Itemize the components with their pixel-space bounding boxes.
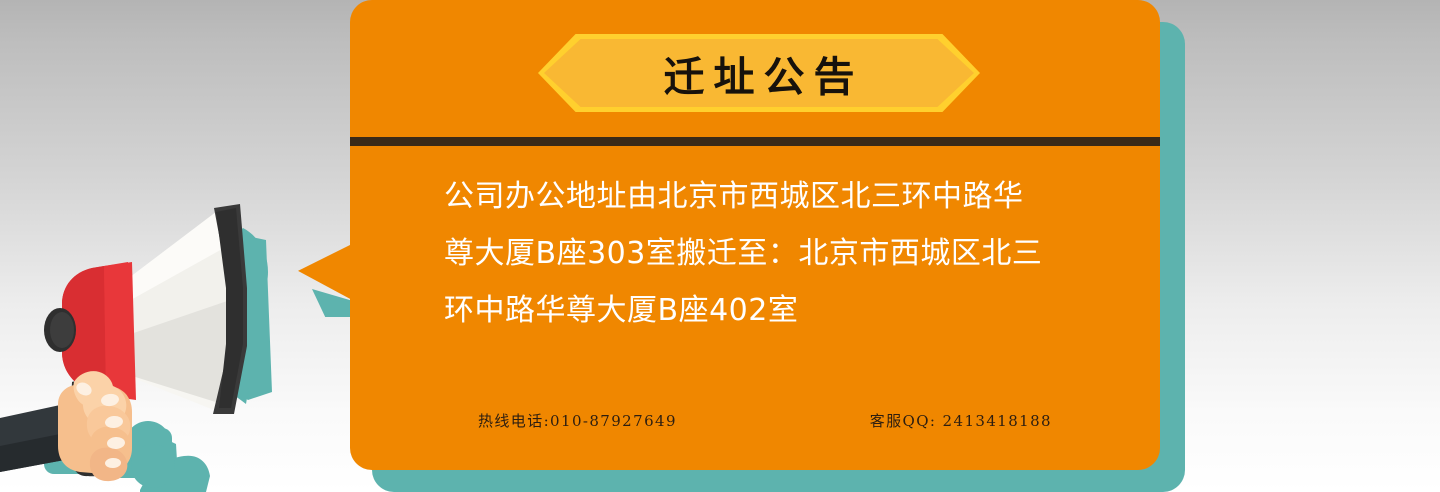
hotline-text: 热线电话:010-87927649 bbox=[444, 410, 677, 431]
announcement-body: 公司办公地址由北京市西城区北三环中路华 尊大厦B座303室搬迁至：北京市西城区北… bbox=[444, 168, 1104, 339]
divider bbox=[350, 137, 1160, 146]
body-line-3: 环中路华尊大厦B座402室 bbox=[444, 282, 1104, 339]
title-banner: 迁址公告 bbox=[538, 34, 980, 112]
announcement-banner-stage: 迁址公告 公司办公地址由北京市西城区北三环中路华 尊大厦B座303室搬迁至：北京… bbox=[0, 0, 1440, 492]
body-line-2: 尊大厦B座303室搬迁至：北京市西城区北三 bbox=[444, 225, 1104, 282]
page-title: 迁址公告 bbox=[538, 34, 980, 112]
body-line-1: 公司办公地址由北京市西城区北三环中路华 bbox=[444, 168, 1104, 225]
qq-text: 客服QQ: 2413418188 bbox=[870, 410, 1104, 431]
hand-holding-megaphone-illustration bbox=[0, 0, 360, 492]
footer-contacts: 热线电话:010-87927649 客服QQ: 2413418188 bbox=[444, 410, 1104, 431]
